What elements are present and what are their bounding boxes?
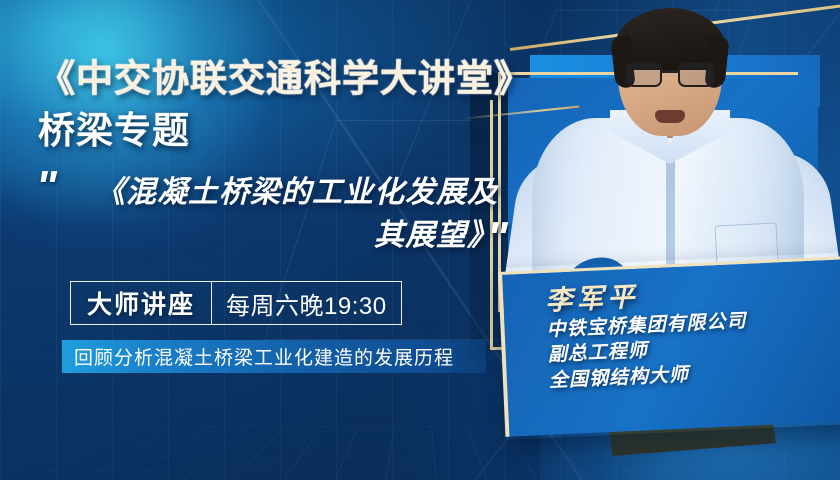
page-title-line2: 桥梁专题 [38, 100, 190, 154]
portrait-glasses-bridge [661, 70, 679, 73]
lecture-headline: 《混凝土桥梁的工业化发展及其展望》 [78, 172, 498, 257]
portrait-glasses-left-lens [626, 62, 662, 87]
speaker-info-inner: 李军平 中铁宝桥集团有限公司 副总工程师 全国钢结构大师 [544, 265, 840, 394]
poster-canvas: 《中交协联交通科学大讲堂》 桥梁专题 " 《混凝土桥梁的工业化发展及其展望》 "… [0, 0, 840, 480]
lecture-type-label: 大师讲座 [71, 282, 212, 324]
portrait-mouth [655, 110, 685, 123]
lecture-time-label: 每周六晚19:30 [212, 282, 401, 324]
portrait-glasses-right-lens [678, 62, 714, 87]
quote-mark-close: " [487, 216, 508, 260]
quote-mark-open: " [36, 165, 57, 209]
speaker-info-card: 李军平 中铁宝桥集团有限公司 副总工程师 全国钢结构大师 [498, 256, 840, 437]
page-title-line1: 《中交协联交通科学大讲堂》 [38, 48, 532, 102]
lecture-tagline: 回顾分析混凝土桥梁工业化建造的发展历程 [62, 340, 486, 373]
lecture-schedule-box: 大师讲座 每周六晚19:30 [70, 281, 402, 325]
